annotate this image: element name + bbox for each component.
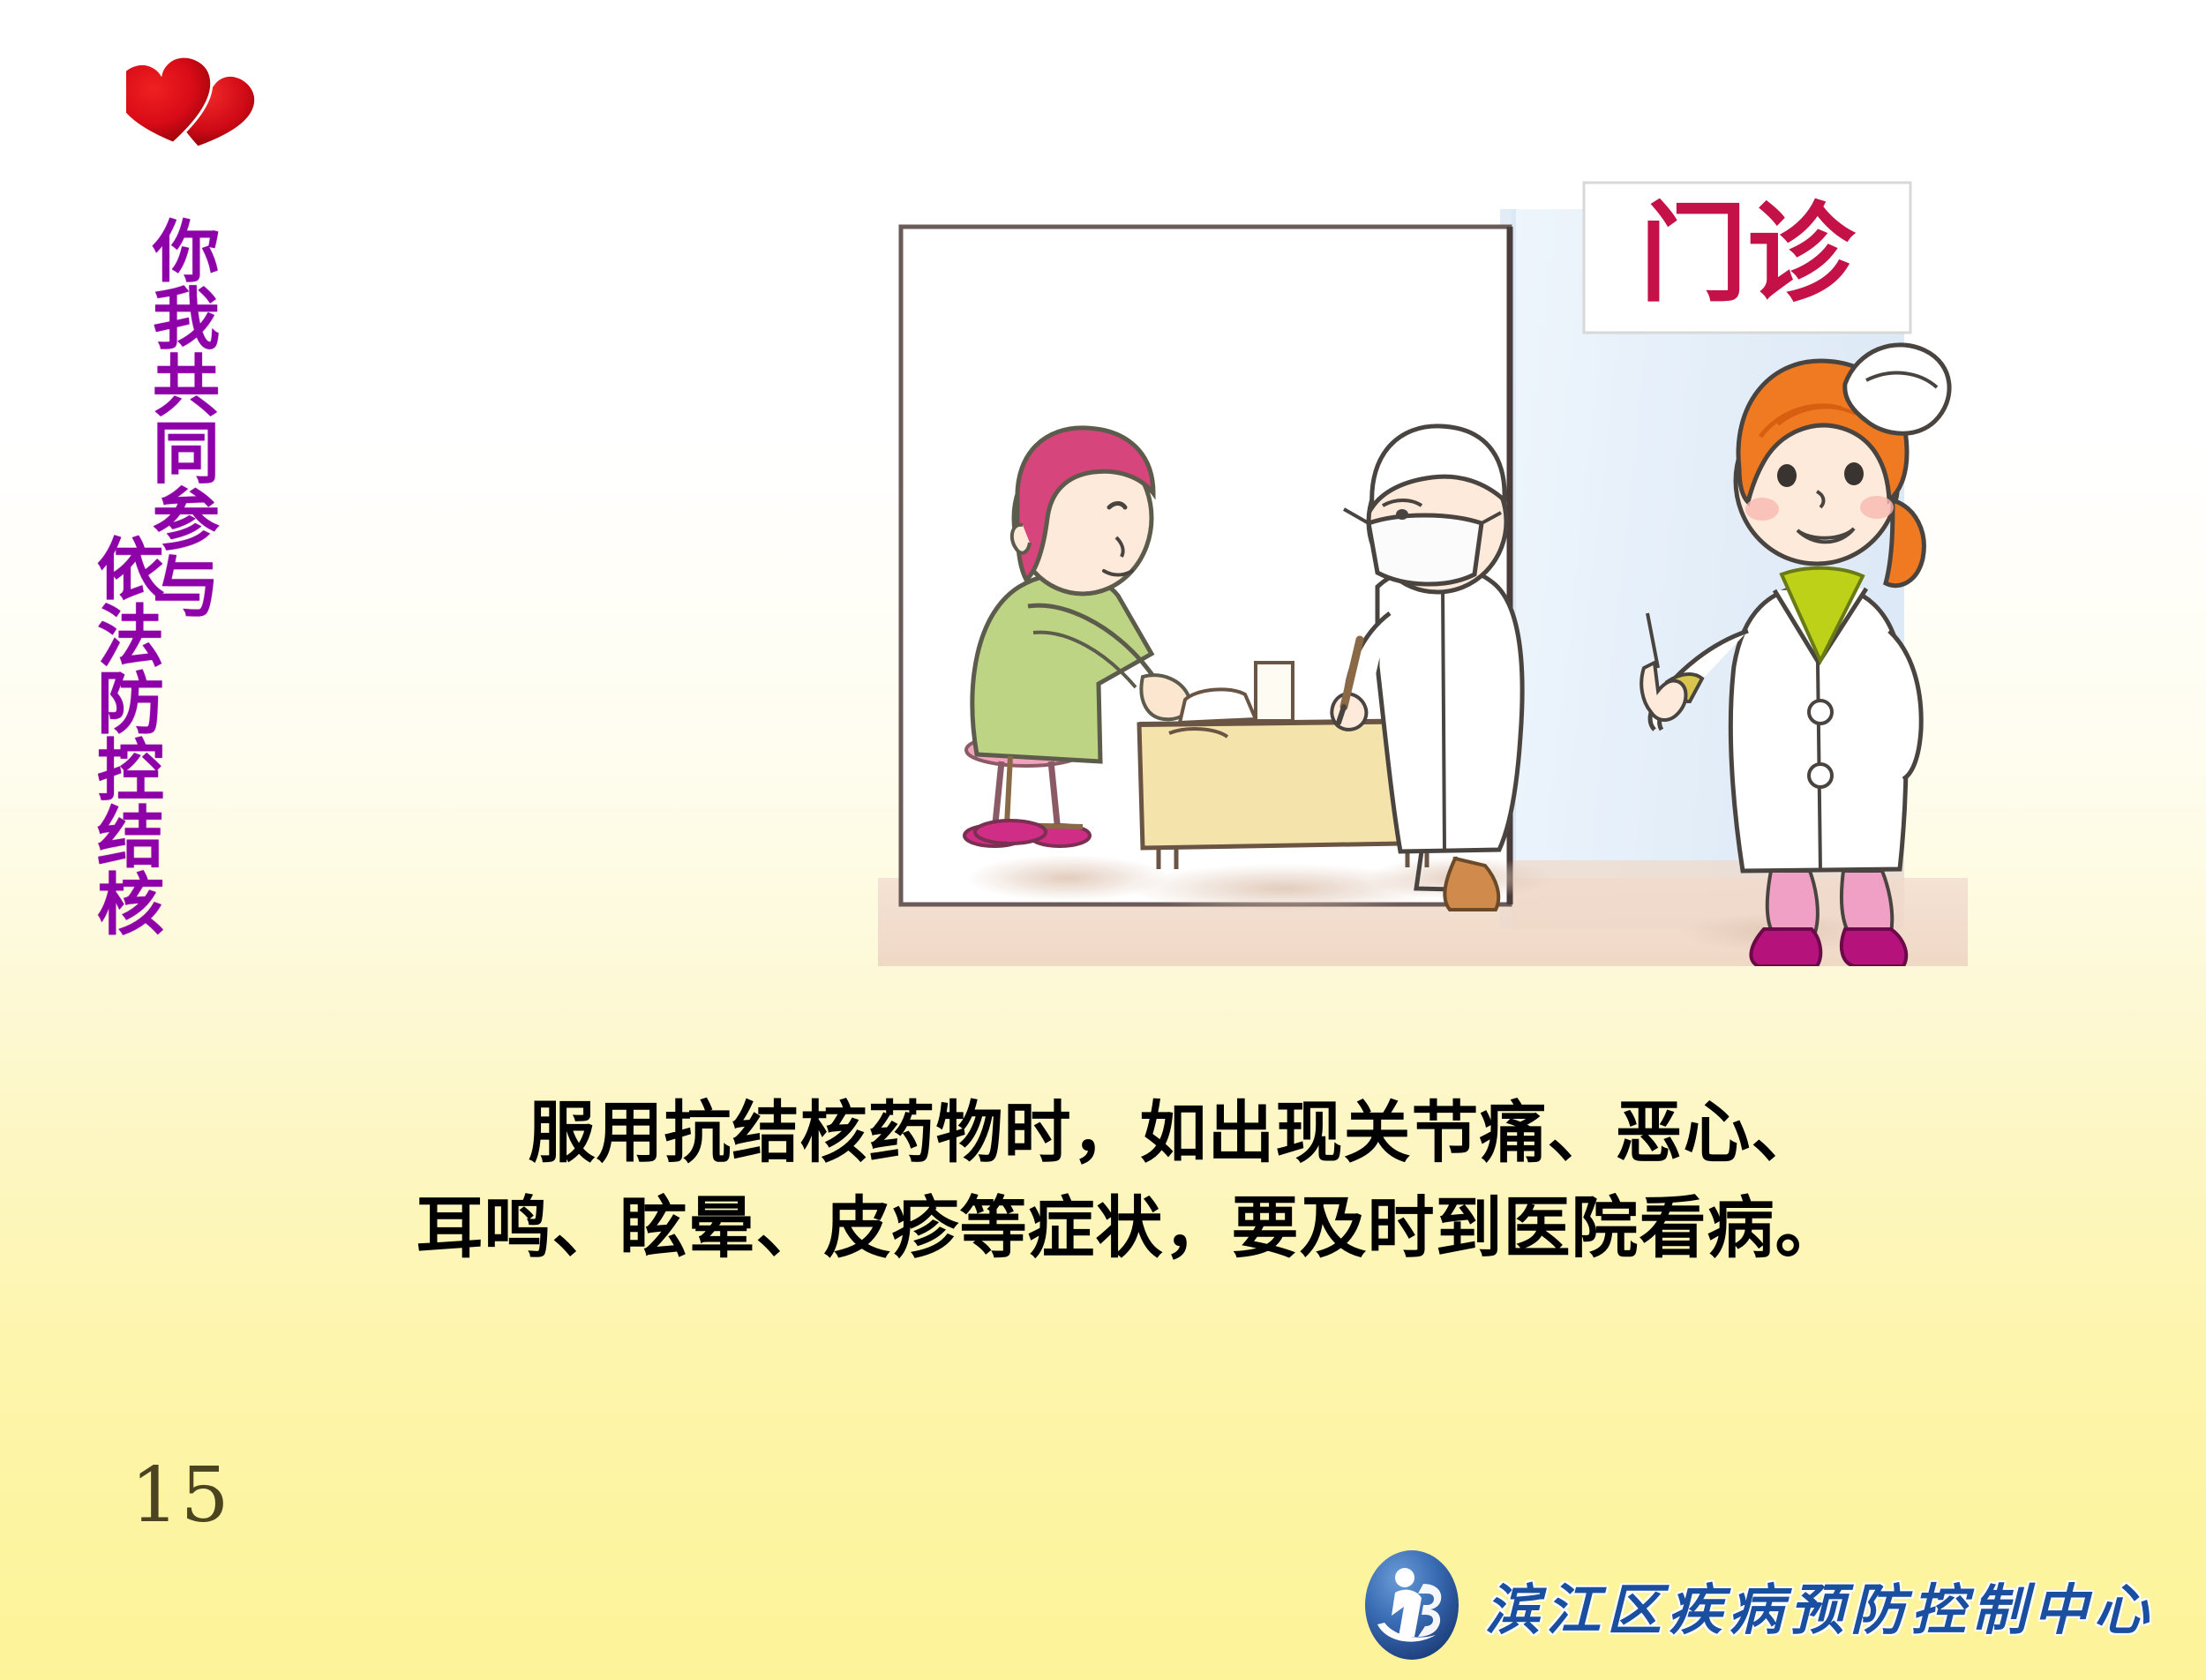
outpatient-sign-text: 门诊: [1639, 191, 1857, 317]
poster-page: 你我共同参与 依法防控结核: [0, 0, 2206, 1680]
caption-text: 服用抗结核药物时，如出现关节痛、恶心、 耳鸣、眩晕、皮疹等症状，要及时到医院看病…: [291, 1085, 1968, 1276]
slogan-column-two: 依法防控结核: [79, 534, 155, 936]
cdc-logo: [1363, 1549, 1460, 1661]
outpatient-sign: 门诊: [1584, 183, 1910, 333]
clinic-consultation-illustration: 门诊: [878, 172, 1968, 966]
organization-name: 滨江区疾病预防控制中心: [1485, 1565, 2155, 1645]
slogan-block: 你我共同参与 依法防控结核: [49, 40, 304, 922]
caption-line-2: 耳鸣、眩晕、皮疹等症状，要及时到医院看病。: [291, 1181, 1968, 1276]
footer-organization: 滨江区疾病预防控制中心: [1363, 1549, 2155, 1661]
caption-line-1: 服用抗结核药物时，如出现关节痛、恶心、: [291, 1085, 1968, 1181]
page-number: 15: [131, 1451, 230, 1540]
two-hearts-icon: [126, 50, 303, 183]
